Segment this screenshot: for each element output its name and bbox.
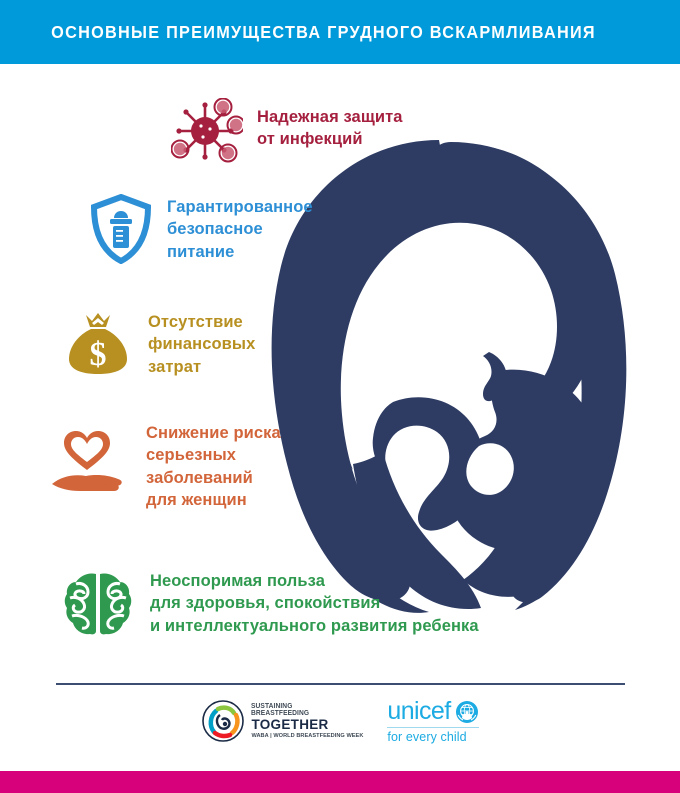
benefit-item-child-development: Неоспоримая польза для здоровья, спокойс… — [62, 568, 479, 640]
unicef-wordmark: unicef — [387, 699, 450, 724]
benefit-item-reduced-disease-risk: Снижение риска серьезных заболеваний для… — [50, 422, 281, 511]
unicef-tagline: for every child — [387, 731, 466, 744]
svg-text:$: $ — [90, 336, 107, 373]
footer-divider — [56, 683, 625, 685]
benefit-label-child-development: Неоспоримая польза для здоровья, спокойс… — [150, 570, 479, 637]
unicef-logo: unicef — [387, 699, 478, 744]
virus-icon — [171, 98, 243, 164]
waba-line-sustaining: SUSTAINING — [251, 703, 292, 710]
waba-line-breastfeeding: BREASTFEEDING — [251, 710, 309, 717]
benefit-label-reduced-disease-risk: Снижение риска серьезных заболеваний для… — [146, 422, 281, 511]
benefit-item-safe-nutrition: Гарантированное безопасное питание — [90, 194, 313, 264]
infographic-canvas: Надежная защита от инфекций Гарантирован… — [0, 64, 680, 760]
waba-line-together: TOGETHER — [251, 718, 328, 732]
shield-bottle-icon — [90, 194, 152, 264]
unicef-globe-emblem-icon — [455, 700, 479, 724]
benefit-label-infection-protection: Надежная защита от инфекций — [257, 106, 403, 151]
unicef-wordmark-row: unicef — [387, 699, 478, 724]
benefit-item-infection-protection: Надежная защита от инфекций — [171, 98, 403, 164]
waba-text-stack: SUSTAINING BREASTFEEDING TOGETHER WABA |… — [251, 703, 363, 739]
benefit-label-no-financial-cost: Отсутствие финансовых затрат — [148, 311, 255, 378]
brain-icon — [62, 568, 134, 640]
unicef-divider — [387, 727, 478, 728]
bottom-accent-bar — [0, 771, 680, 793]
waba-logo: SUSTAINING BREASTFEEDING TOGETHER WABA |… — [201, 699, 363, 743]
header-banner: ОСНОВНЫЕ ПРЕИМУЩЕСТВА ГРУДНОГО ВСКАРМЛИВ… — [0, 0, 680, 64]
benefit-item-no-financial-cost: $ Отсутствие финансовых затрат — [66, 309, 255, 378]
waba-emblem-icon — [201, 699, 245, 743]
page-title: ОСНОВНЫЕ ПРЕИМУЩЕСТВА ГРУДНОГО ВСКАРМЛИВ… — [0, 22, 596, 43]
money-bag-icon: $ — [66, 309, 130, 377]
benefit-label-safe-nutrition: Гарантированное безопасное питание — [167, 196, 313, 263]
footer-logos: SUSTAINING BREASTFEEDING TOGETHER WABA |… — [0, 699, 680, 744]
waba-footnote: WABA | WORLD BREASTFEEDING WEEK — [251, 734, 363, 740]
hand-heart-icon — [50, 422, 128, 500]
